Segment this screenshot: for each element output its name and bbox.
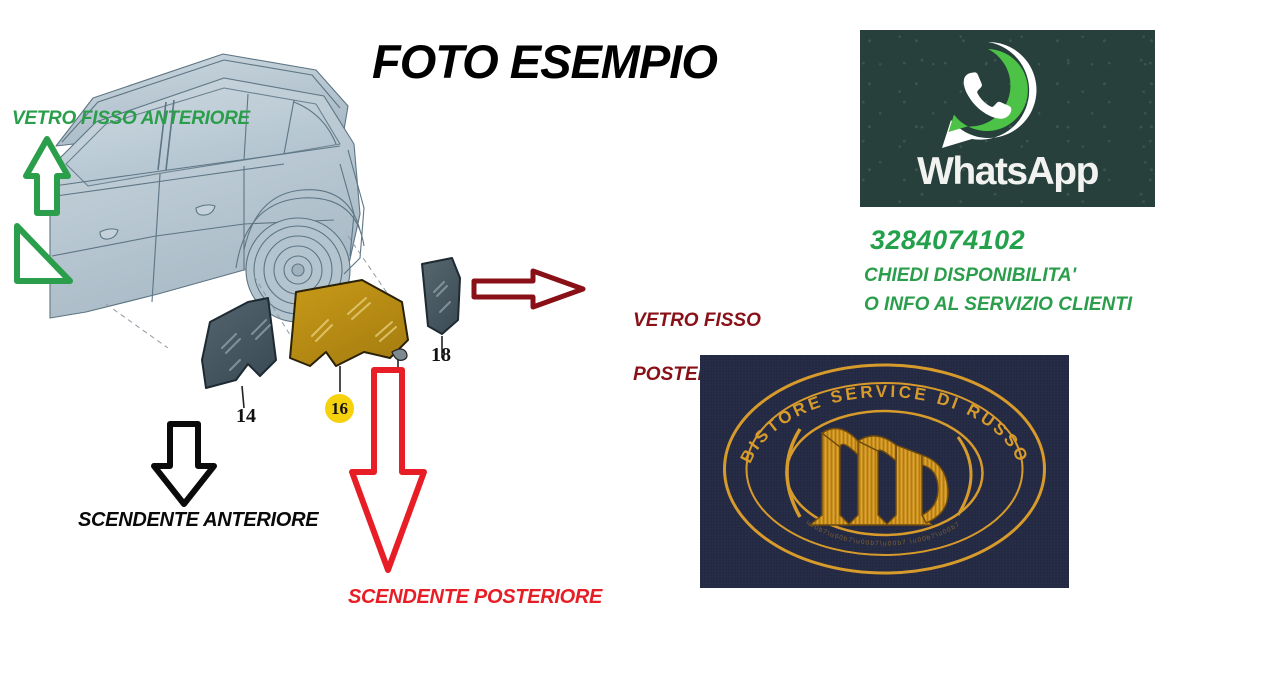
whatsapp-icon [928,36,1048,156]
company-logo-graphic: MRICAMBISTORE SERVICE DI RUSSO MARCO \u0… [700,355,1069,588]
label-scendente-posteriore: SCENDENTE POSTERIORE [348,586,602,609]
poster-canvas: FOTO ESEMPIO [0,0,1264,678]
part-number-14: 14 [236,405,256,428]
label-vetro-fisso-anteriore: VETRO FISSO ANTERIORE [12,108,250,130]
whatsapp-banner: WhatsApp [860,30,1155,207]
whatsapp-wordmark: WhatsApp [860,150,1155,194]
company-logo-photo: MRICAMBISTORE SERVICE DI RUSSO MARCO \u0… [700,355,1069,588]
contact-line-1: CHIEDI DISPONIBILITA' [864,265,1076,287]
part-number-badge-16: 16 [325,394,354,423]
label-vfp-line1: VETRO FISSO [633,310,761,331]
part-number-17: 17 [379,398,399,421]
label-scendente-anteriore: SCENDENTE ANTERIORE [78,509,318,532]
logo-monogram [810,429,948,526]
contact-line-2: O INFO AL SERVIZIO CLIENTI [864,294,1132,316]
part-number-18: 18 [431,344,451,367]
glass-parts-diagram [140,240,480,440]
phone-number[interactable]: 3284074102 [870,225,1025,256]
page-title: FOTO ESEMPIO [372,34,792,89]
right-arrow-dark-red-icon [474,271,583,307]
